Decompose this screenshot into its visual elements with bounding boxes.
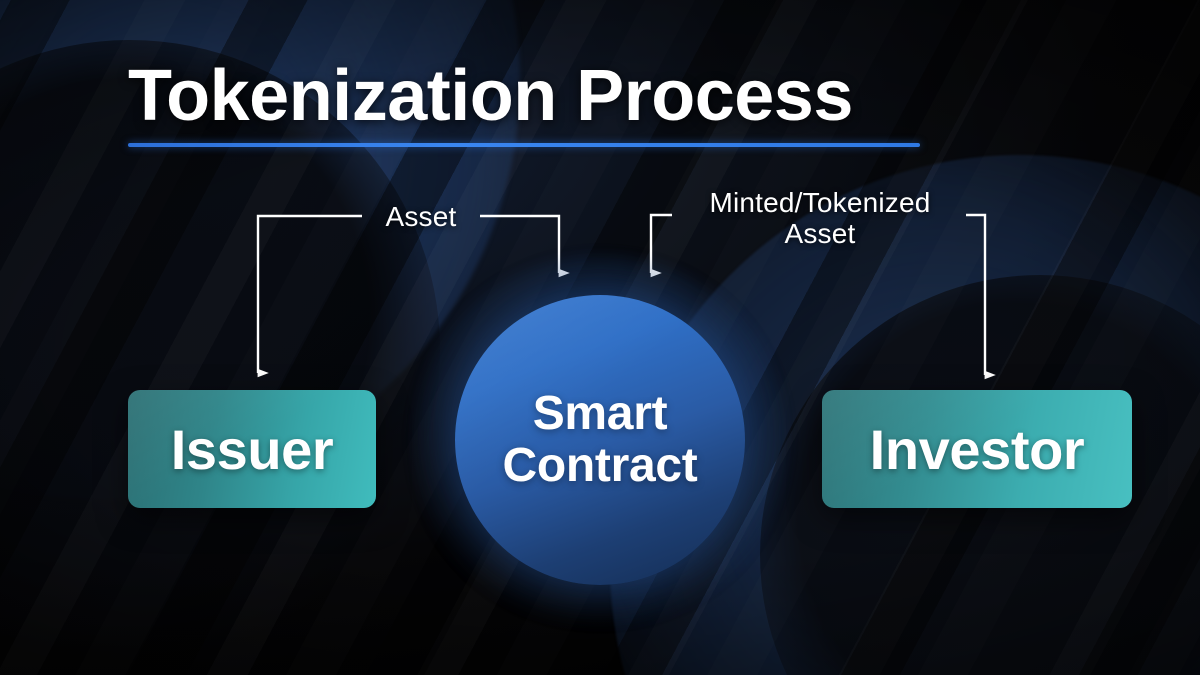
title-underline-rule <box>128 143 920 147</box>
edge-label-minted-tokenized-asset: Minted/Tokenized Asset <box>660 187 980 250</box>
title-block: Tokenization Process <box>128 60 1028 147</box>
node-smart-contract[interactable]: Smart Contract <box>455 295 745 585</box>
node-smart-contract-label: Smart Contract <box>503 388 698 492</box>
node-issuer[interactable]: Issuer <box>128 390 376 508</box>
node-investor-label: Investor <box>870 417 1085 482</box>
node-investor[interactable]: Investor <box>822 390 1132 508</box>
node-issuer-label: Issuer <box>171 417 334 482</box>
page-title: Tokenization Process <box>128 60 1028 132</box>
slide-canvas: Tokenization Process Asset Minted/Tokeni… <box>0 0 1200 675</box>
edge-label-asset: Asset <box>366 201 476 232</box>
